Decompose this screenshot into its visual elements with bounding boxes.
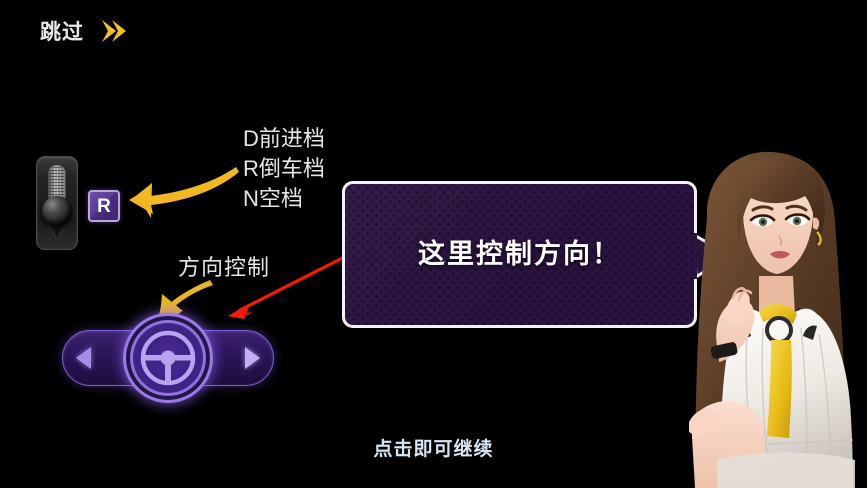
continue-hint[interactable]: 点击即可继续 xyxy=(0,434,867,461)
steering-control[interactable] xyxy=(62,330,274,386)
character-neck xyxy=(759,276,795,318)
character-wristband xyxy=(710,341,738,359)
tutorial-screen: 跳过 R D前进档 R倒车档 N空档 方向控制 xyxy=(0,0,867,488)
gear-indicator-badge[interactable]: R xyxy=(88,190,120,222)
skip-button[interactable]: 跳过 xyxy=(40,16,126,46)
character-brow-right xyxy=(787,206,806,210)
character-nose xyxy=(779,236,782,245)
character-eye-left xyxy=(751,216,774,227)
character-tie xyxy=(767,340,792,438)
character-hand-lower xyxy=(689,409,719,435)
character-strap-right xyxy=(803,325,817,340)
gear-legend-line-reverse: R倒车档 xyxy=(243,154,325,184)
character-collar-ribbon xyxy=(759,304,797,324)
character-ring-accent xyxy=(767,318,791,342)
gear-indicator-letter: R xyxy=(97,197,111,216)
character-blouse xyxy=(721,309,853,488)
gear-legend: D前进档 R倒车档 N空档 xyxy=(243,124,325,214)
triangle-right-icon[interactable] xyxy=(245,347,260,369)
direction-control-label: 方向控制 xyxy=(178,250,270,282)
speech-bubble: 这里控制方向！ xyxy=(342,181,697,328)
gear-legend-line-neutral: N空档 xyxy=(243,184,325,214)
speech-bubble-tail xyxy=(694,233,734,281)
speech-bubble-text: 这里控制方向！ xyxy=(418,232,621,271)
chevron-right-icon xyxy=(96,16,126,46)
gear-shift-knob[interactable] xyxy=(42,196,72,226)
character-strap-left xyxy=(737,325,751,340)
steering-wheel-icon xyxy=(139,329,197,387)
character-mouth xyxy=(770,251,790,259)
character-hair-front xyxy=(737,156,825,248)
character-hand xyxy=(725,288,751,326)
character-face xyxy=(743,166,813,274)
gear-legend-line-drive: D前进档 xyxy=(243,124,325,154)
triangle-left-icon[interactable] xyxy=(76,347,91,369)
character-ear xyxy=(813,218,819,230)
curved-arrow-left-icon xyxy=(129,167,239,218)
steering-knob[interactable] xyxy=(123,313,213,403)
character-earring xyxy=(817,232,821,245)
character-eye-right xyxy=(786,215,809,226)
gear-shift-lever[interactable] xyxy=(36,156,78,250)
character-brow-left xyxy=(753,207,772,210)
character-arm-raised xyxy=(716,299,754,362)
skip-button-label: 跳过 xyxy=(40,16,84,46)
